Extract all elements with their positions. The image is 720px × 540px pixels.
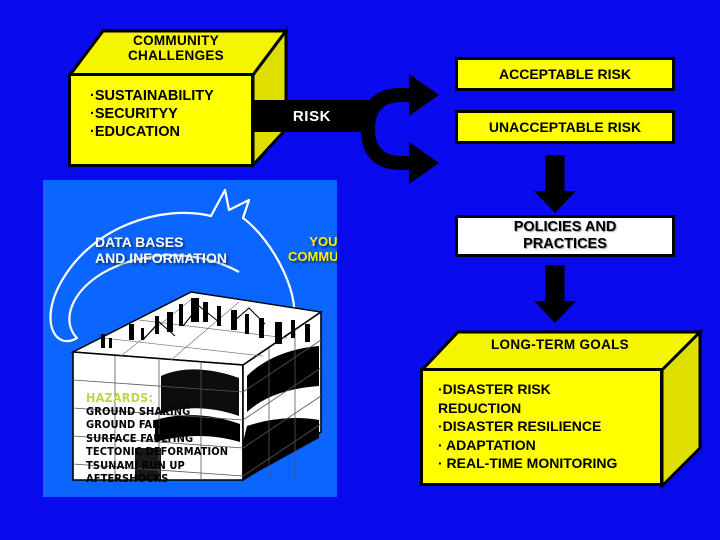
goals-box-bullets: ·DISASTER RISK REDUCTION ·DISASTER RESIL… (438, 380, 617, 473)
acceptable-risk-label: ACCEPTABLE RISK (499, 66, 631, 82)
list-item: ·DISASTER RESILIENCE (438, 417, 617, 436)
acceptable-risk-box: ACCEPTABLE RISK (455, 57, 675, 91)
your-community-line1: YOUR (288, 235, 337, 250)
community-box-bullets: ·SUSTAINABILITY ·SECURITYY ·EDUCATION (90, 87, 214, 141)
hazards-title: HAZARDS: (86, 390, 228, 405)
risk-split-arrow: RISK (253, 85, 443, 155)
community-box-title: COMMUNITY CHALLENGES (96, 33, 256, 63)
list-item: GROUND SHAKING (86, 405, 228, 418)
list-item: · REAL-TIME MONITORING (438, 454, 617, 473)
databases-label-line2: AND INFORMATION (95, 251, 227, 267)
list-item: TSUNAMI RUN UP (86, 459, 228, 472)
policies-line2: PRACTICES (523, 236, 607, 253)
arrow-to-policies (534, 155, 576, 213)
list-item: AFTERSHOCKS (86, 472, 228, 485)
list-item: GROUND FAILURE (86, 418, 228, 431)
policies-line1: POLICIES AND (514, 219, 617, 236)
list-item: · ADAPTATION (438, 436, 617, 455)
list-item: ·EDUCATION (90, 123, 214, 141)
risk-arrow-label: RISK (253, 100, 371, 132)
your-community-label: YOUR COMMUNITY (288, 235, 337, 264)
unacceptable-risk-label: UNACCEPTABLE RISK (489, 119, 641, 135)
hazards-list: HAZARDS: GROUND SHAKING GROUND FAILURE S… (86, 390, 228, 485)
unacceptable-risk-box: UNACCEPTABLE RISK (455, 110, 675, 144)
databases-label: DATA BASES AND INFORMATION (95, 235, 227, 266)
databases-label-line1: DATA BASES (95, 235, 227, 251)
goals-side-face (660, 330, 704, 490)
goals-box-title: LONG-TERM GOALS (460, 337, 660, 352)
community-box-title-line1: COMMUNITY (96, 33, 256, 48)
policies-and-practices-box: POLICIES AND PRACTICES (455, 215, 675, 257)
your-community-line2: COMMUNITY (288, 250, 337, 265)
arrow-to-goals (534, 265, 576, 323)
list-item: TECTONIC DEFORMATION (86, 445, 228, 458)
list-item: ·DISASTER RISK (438, 380, 617, 399)
list-item: ·SECURITYY (90, 105, 214, 123)
hazards-illustration-panel: DATA BASES AND INFORMATION YOUR COMMUNIT… (43, 180, 337, 497)
community-box-title-line2: CHALLENGES (96, 48, 256, 63)
list-item: REDUCTION (438, 399, 617, 418)
list-item: SURFACE FAULTING (86, 432, 228, 445)
list-item: ·SUSTAINABILITY (90, 87, 214, 105)
diagram-canvas: COMMUNITY CHALLENGES ·SUSTAINABILITY ·SE… (0, 0, 720, 540)
long-term-goals-box: LONG-TERM GOALS ·DISASTER RISK REDUCTION… (420, 330, 702, 488)
